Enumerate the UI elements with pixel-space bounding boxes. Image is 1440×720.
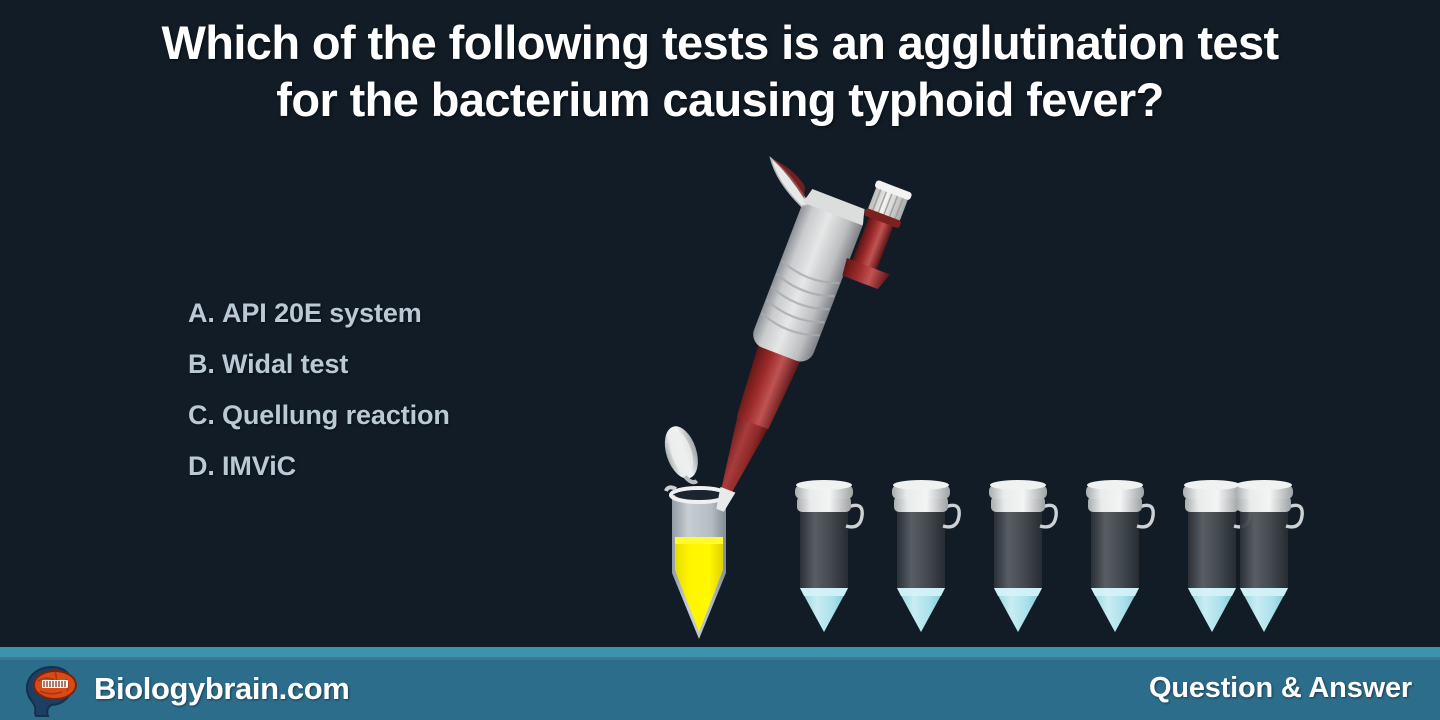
brand-name: Biologybrain.com [94, 671, 349, 707]
pipette-body [749, 189, 868, 365]
question-answer-label: Question & Answer [1149, 657, 1412, 720]
option-c-label: C. [188, 390, 222, 441]
tube-closed-1 [795, 480, 862, 632]
question-title: Which of the following tests is an agglu… [0, 16, 1440, 128]
pipette-ejector-arm [846, 197, 901, 287]
option-a[interactable]: A.API 20E system [188, 288, 450, 339]
pipette-tip-end [713, 487, 736, 513]
pipette-lower-barrel [731, 338, 803, 431]
answer-options-list: A.API 20E system B.Widal test C.Quellung… [188, 288, 450, 492]
closed-tube-group [795, 480, 1302, 632]
option-c-text: Quellung reaction [222, 400, 450, 430]
option-d[interactable]: D.IMViC [188, 441, 450, 492]
tube-closed-2 [892, 480, 959, 632]
pipette-grip-ribs [759, 261, 839, 341]
question-line-1: Which of the following tests is an agglu… [24, 16, 1416, 71]
tube-open-with-yellow-sample [659, 422, 727, 639]
option-d-text: IMViC [222, 451, 296, 481]
option-c[interactable]: C.Quellung reaction [188, 390, 450, 441]
brain-head-logo-icon [22, 661, 84, 717]
option-b-text: Widal test [222, 349, 348, 379]
tube-closed-5 [1183, 480, 1250, 632]
tube-closed-3 [989, 480, 1056, 632]
pipette-ejector-bar [840, 258, 889, 291]
option-a-label: A. [188, 288, 222, 339]
pipette-plunger-button [863, 180, 912, 229]
pipette-tip [709, 413, 769, 500]
question-answer-text: Question & Answer [1149, 672, 1412, 705]
option-b-label: B. [188, 339, 222, 390]
micropipette [646, 141, 920, 537]
pipette-finger-hook [758, 158, 819, 208]
tube-open-lid [659, 422, 706, 488]
tube-closed-6 [1235, 480, 1302, 632]
tube-closed-4 [1086, 480, 1153, 632]
option-d-label: D. [188, 441, 222, 492]
option-a-text: API 20E system [222, 298, 422, 328]
quiz-slide: Which of the following tests is an agglu… [0, 0, 1440, 720]
option-b[interactable]: B.Widal test [188, 339, 450, 390]
footer-bar: Biologybrain.com Question & Answer [0, 647, 1440, 720]
brand-block[interactable]: Biologybrain.com [22, 657, 349, 720]
question-line-2: for the bacterium causing typhoid fever? [24, 73, 1416, 128]
